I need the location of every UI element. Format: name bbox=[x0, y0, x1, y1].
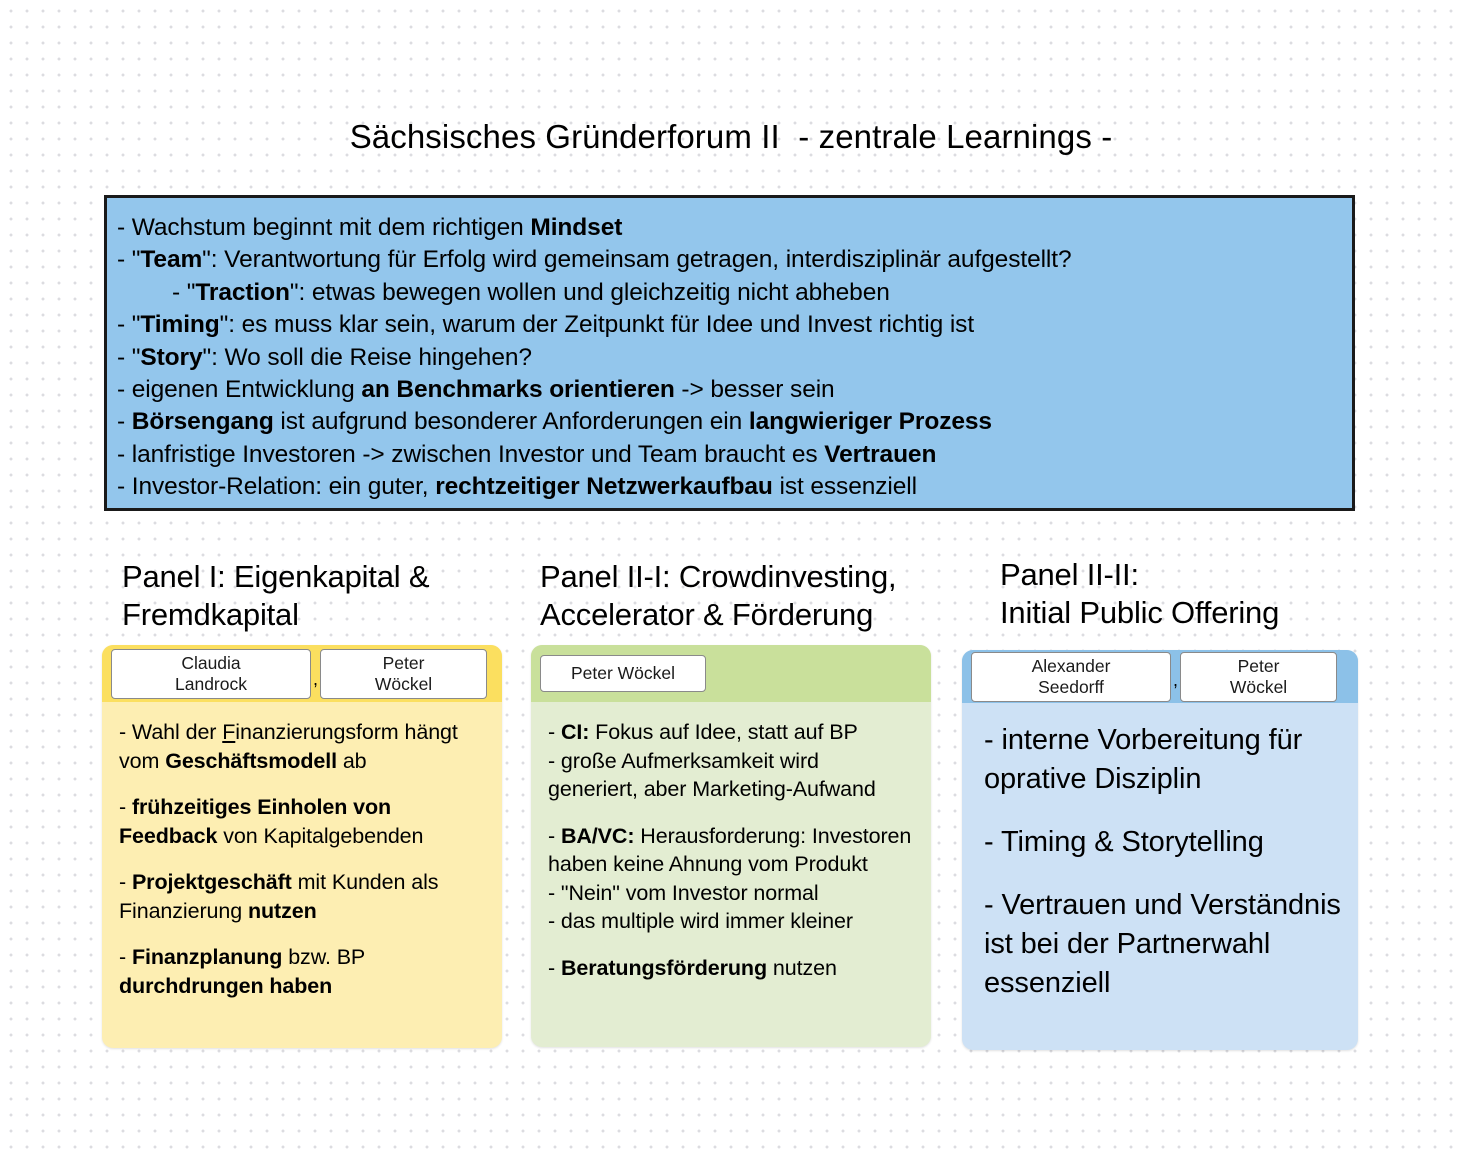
slide-canvas: Sächsisches Gründerforum II - zentrale L… bbox=[0, 0, 1462, 1151]
panel-3-speaker-row: Alexander Seedorff , Peter Wöckel bbox=[962, 650, 1358, 703]
text-line: - Timing & Storytelling bbox=[984, 823, 1342, 862]
text-line: - Projektgeschäft mit Kunden als Finanzi… bbox=[119, 868, 485, 925]
panel-card-crowdinvesting-accelerator-foerderung: Peter Wöckel - CI: Fokus auf Idee, statt… bbox=[531, 645, 931, 1047]
panel-2-speaker-row: Peter Wöckel bbox=[531, 645, 931, 702]
speaker-tag[interactable]: Peter Wöckel bbox=[540, 655, 706, 692]
text-line: - Wachstum beginnt mit dem richtigen Min… bbox=[117, 212, 1352, 244]
text-line: - Börsengang ist aufgrund besonderer Anf… bbox=[117, 406, 1352, 438]
speaker-tag[interactable]: Peter Wöckel bbox=[320, 649, 487, 699]
panel-3-body: - interne Vorbereitung für oprative Disz… bbox=[962, 703, 1358, 1013]
speaker-tag[interactable]: Peter Wöckel bbox=[1180, 652, 1337, 702]
speaker-separator: , bbox=[1171, 671, 1180, 703]
text-line: - "Nein" vom Investor normal bbox=[548, 879, 914, 908]
page-title: Sächsisches Gründerforum II - zentrale L… bbox=[0, 117, 1462, 157]
text-line: - CI: Fokus auf Idee, statt auf BP bbox=[548, 718, 914, 747]
text-line: - Finanzplanung bzw. BP durchdrungen hab… bbox=[119, 943, 485, 1000]
text-line: - frühzeitiges Einholen von Feedback von… bbox=[119, 793, 485, 850]
text-line: - lanfristige Investoren -> zwischen Inv… bbox=[117, 439, 1352, 471]
spacer-line bbox=[119, 925, 485, 943]
panel-1-speaker-row: Claudia Landrock , Peter Wöckel bbox=[102, 645, 502, 702]
speaker-tag[interactable]: Alexander Seedorff bbox=[971, 652, 1171, 702]
text-line: - "Team": Verantwortung für Erfolg wird … bbox=[117, 244, 1352, 276]
text-line: - interne Vorbereitung für oprative Disz… bbox=[984, 721, 1342, 799]
text-line: - "Timing": es muss klar sein, warum der… bbox=[117, 309, 1352, 341]
spacer-line bbox=[548, 804, 914, 822]
text-line: - das multiple wird immer kleiner bbox=[548, 907, 914, 936]
text-line: - "Traction": etwas bewegen wollen und g… bbox=[117, 277, 1352, 309]
spacer-line bbox=[119, 850, 485, 868]
panel-heading-3: Panel II-II: Initial Public Offering bbox=[1000, 556, 1400, 632]
text-line: - Beratungsförderung nutzen bbox=[548, 954, 914, 983]
panel-heading-2: Panel II-I: Crowdinvesting, Accelerator … bbox=[540, 558, 960, 634]
text-line: - BA/VC: Herausforderung: Investoren hab… bbox=[548, 822, 914, 879]
panel-2-body: - CI: Fokus auf Idee, statt auf BP- groß… bbox=[531, 702, 931, 992]
text-line: - Wahl der Finanzierungsform hängt vom G… bbox=[119, 718, 485, 775]
spacer-line bbox=[984, 862, 1342, 886]
panel-card-eigenkapital-fremdkapital: Claudia Landrock , Peter Wöckel - Wahl d… bbox=[102, 645, 502, 1048]
panel-card-initial-public-offering: Alexander Seedorff , Peter Wöckel - inte… bbox=[962, 650, 1358, 1050]
central-learnings-box: - Wachstum beginnt mit dem richtigen Min… bbox=[104, 195, 1355, 511]
text-line: - "Story": Wo soll die Reise hingehen? bbox=[117, 342, 1352, 374]
learnings-list: - Wachstum beginnt mit dem richtigen Min… bbox=[117, 212, 1352, 504]
text-line: - große Aufmerksamkeit wird generiert, a… bbox=[548, 747, 914, 804]
panel-heading-1: Panel I: Eigenkapital & Fremdkapital bbox=[122, 558, 522, 634]
spacer-line bbox=[119, 775, 485, 793]
spacer-line bbox=[984, 799, 1342, 823]
speaker-tag[interactable]: Claudia Landrock bbox=[111, 649, 311, 699]
panel-1-body: - Wahl der Finanzierungsform hängt vom G… bbox=[102, 702, 502, 1010]
text-line: - Investor-Relation: ein guter, rechtzei… bbox=[117, 471, 1352, 503]
text-line: - Vertrauen und Verständnis ist bei der … bbox=[984, 886, 1342, 1003]
text-line: - eigenen Entwicklung an Benchmarks orie… bbox=[117, 374, 1352, 406]
speaker-separator: , bbox=[311, 670, 320, 702]
spacer-line bbox=[548, 936, 914, 954]
